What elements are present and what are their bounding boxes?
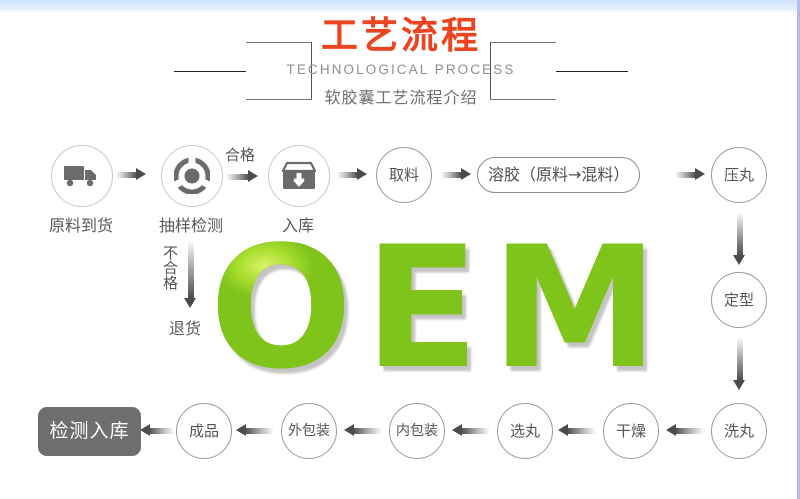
node-pill-pressing[interactable]: 压丸: [711, 147, 767, 203]
arrow-drying-to-selecting: [558, 424, 596, 437]
node-pill-washing[interactable]: 洗丸: [711, 403, 767, 459]
page-title: 工艺流程: [246, 14, 556, 58]
node-gel-melting[interactable]: 溶胶（原料→混料）: [477, 157, 640, 193]
arrow-selecting-to-inner-packaging: [452, 424, 490, 437]
node-take-material[interactable]: 取料: [376, 147, 432, 203]
sampling-icon: [174, 158, 210, 194]
arrow-shaping-to-washing: [733, 337, 746, 390]
arrow-outer-packaging-to-finished: [236, 424, 274, 437]
label-raw-material-arrival: 原料到货: [21, 212, 141, 236]
label-pill-pressing: 压丸: [724, 168, 754, 183]
label-return-goods: 退货: [150, 315, 220, 339]
label-sampling-inspection: 抽样检测: [131, 212, 251, 236]
node-finished-product[interactable]: 成品: [176, 403, 232, 459]
node-outer-packaging[interactable]: 外包装: [281, 403, 337, 459]
top-blue-band: [0, 0, 800, 13]
label-take-material: 取料: [389, 168, 419, 183]
label-pass-qualified: 合格: [225, 144, 255, 165]
arrow-sampling-to-warehousing: [226, 170, 258, 183]
arrow-finished-to-inspection: [140, 424, 174, 437]
label-inspection-warehousing: 检测入库: [49, 422, 129, 441]
node-inspection-warehousing[interactable]: 检测入库: [38, 407, 141, 456]
arrow-take-material-to-gel: [441, 168, 471, 181]
label-finished-product: 成品: [189, 424, 219, 439]
arrow-gel-to-pill-pressing: [675, 168, 705, 181]
arrow-inner-to-outer-packaging: [344, 424, 382, 437]
arrow-arrival-to-sampling: [116, 168, 146, 181]
label-outer-packaging: 外包装: [288, 424, 330, 438]
node-warehousing[interactable]: [268, 145, 330, 207]
page-subtitle: 软胶囊工艺流程介绍: [246, 84, 556, 108]
arrow-washing-to-drying: [666, 424, 704, 437]
node-pill-selecting[interactable]: 选丸: [497, 403, 553, 459]
oem-watermark-text: OEM: [210, 233, 671, 383]
label-pill-washing: 洗丸: [724, 424, 754, 439]
header: 工艺流程 TECHNOLOGICAL PROCESS 软胶囊工艺流程介绍: [0, 18, 800, 113]
label-inner-packaging: 内包装: [396, 424, 438, 438]
inbox-down-arrow-icon: [282, 161, 316, 191]
arrow-pressing-to-shaping: [733, 212, 746, 265]
label-warehousing: 入库: [248, 212, 348, 236]
oem-watermark: OEM: [190, 228, 690, 388]
node-inner-packaging[interactable]: 内包装: [389, 403, 445, 459]
arrow-warehousing-to-take-material: [337, 168, 367, 181]
label-drying: 干燥: [616, 424, 646, 439]
arrow-sampling-to-return: [184, 240, 197, 308]
label-gel-melting: 溶胶（原料→混料）: [488, 167, 629, 183]
label-fail-unqualified: 不合格: [160, 245, 181, 290]
truck-icon: [64, 165, 100, 187]
node-drying[interactable]: 干燥: [603, 403, 659, 459]
label-pill-selecting: 选丸: [510, 424, 540, 439]
node-sampling-inspection[interactable]: [161, 145, 223, 207]
process-flow-infographic: 工艺流程 TECHNOLOGICAL PROCESS 软胶囊工艺流程介绍 OEM…: [0, 0, 800, 499]
label-shaping: 定型: [724, 293, 754, 308]
node-shaping[interactable]: 定型: [711, 272, 767, 328]
page-title-english: TECHNOLOGICAL PROCESS: [246, 62, 556, 77]
node-raw-material-arrival[interactable]: [51, 145, 113, 207]
